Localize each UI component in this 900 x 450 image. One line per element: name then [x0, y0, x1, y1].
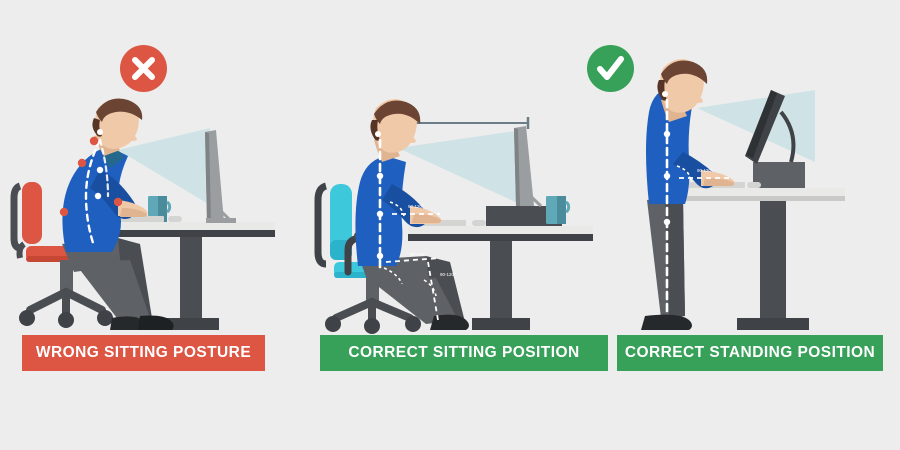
infographic-stage: 90-120° 90-120° 90-120°	[0, 0, 900, 450]
monitor-imac	[514, 126, 541, 206]
panel-correct-sitting: 90-120° 90-120° 90-120°	[300, 0, 605, 450]
angle-label-hip: 90-120°	[410, 252, 426, 257]
mouse	[168, 216, 182, 222]
angle-label-knee: 90-120°	[440, 272, 456, 277]
correct-standing-illustration: 90-120°	[605, 0, 900, 450]
label-correct-sitting-position: CORRECT SITTING POSITION	[320, 335, 608, 371]
cross-icon	[120, 45, 167, 92]
monitor-imac	[205, 130, 236, 223]
mouse	[747, 182, 761, 188]
sight-line-cone	[398, 130, 522, 205]
panel-correct-standing: 90-120°	[605, 0, 900, 450]
label-wrong-sitting-posture: WRONG SITTING POSTURE	[22, 335, 265, 371]
label-correct-standing-position: CORRECT STANDING POSITION	[617, 335, 883, 371]
shoes	[110, 316, 174, 331]
coffee-mug	[546, 196, 569, 224]
angle-label-elbow: 90-120°	[697, 168, 713, 173]
shoes	[641, 315, 692, 330]
check-icon	[587, 45, 634, 92]
mouse	[472, 220, 486, 226]
standing-desk	[685, 188, 845, 330]
correct-sitting-illustration: 90-120° 90-120° 90-120°	[300, 0, 605, 450]
cross-glyph	[120, 45, 167, 92]
check-glyph	[587, 45, 634, 92]
angle-label-arm: 90-120°	[408, 204, 424, 209]
